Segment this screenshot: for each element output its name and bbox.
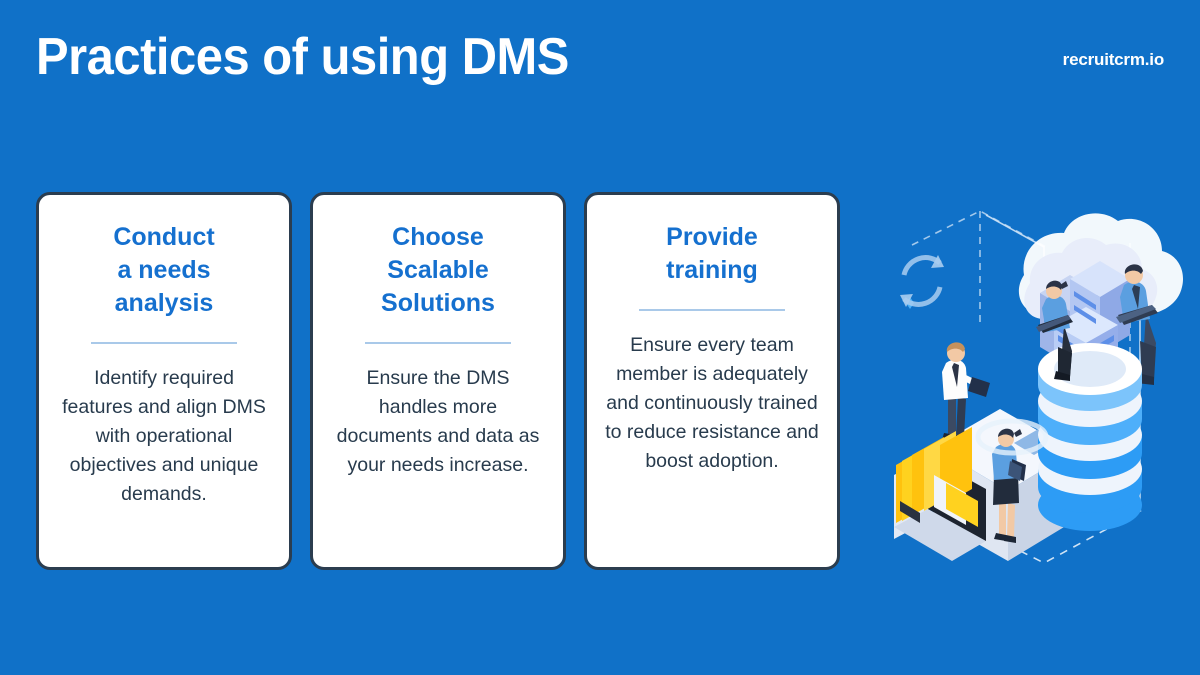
sync-arrowhead-icons	[900, 255, 944, 307]
practice-card-3-title: Provide training	[666, 221, 758, 287]
practice-card-3-divider	[639, 309, 785, 311]
page-title: Practices of using DMS	[36, 28, 569, 88]
practice-card-1-divider	[91, 342, 237, 344]
slide-header: Practices of using DMS recruitcrm.io	[0, 0, 1200, 150]
practice-card-2-body: Ensure the DMS handles more documents an…	[331, 364, 545, 480]
practice-card-1-body: Identify required features and align DMS…	[57, 364, 271, 509]
practice-card-2[interactable]: Choose Scalable Solutions Ensure the DMS…	[310, 192, 566, 570]
practice-card-3[interactable]: Provide training Ensure every team membe…	[584, 192, 840, 570]
practice-card-2-divider	[365, 342, 511, 344]
database-cylinder-stack	[1038, 343, 1142, 531]
slide-root: Practices of using DMS recruitcrm.io Con…	[0, 0, 1200, 675]
cloud-data-management-illustration	[894, 175, 1194, 575]
practice-card-1[interactable]: Conduct a needs analysis Identify requir…	[36, 192, 292, 570]
practice-card-list: Conduct a needs analysis Identify requir…	[36, 192, 840, 570]
practice-card-3-body: Ensure every team member is adequately a…	[605, 331, 819, 476]
brand-logo: recruitcrm.io	[1063, 50, 1164, 70]
practice-card-1-title: Conduct a needs analysis	[113, 221, 214, 320]
practice-card-2-title: Choose Scalable Solutions	[381, 221, 495, 320]
